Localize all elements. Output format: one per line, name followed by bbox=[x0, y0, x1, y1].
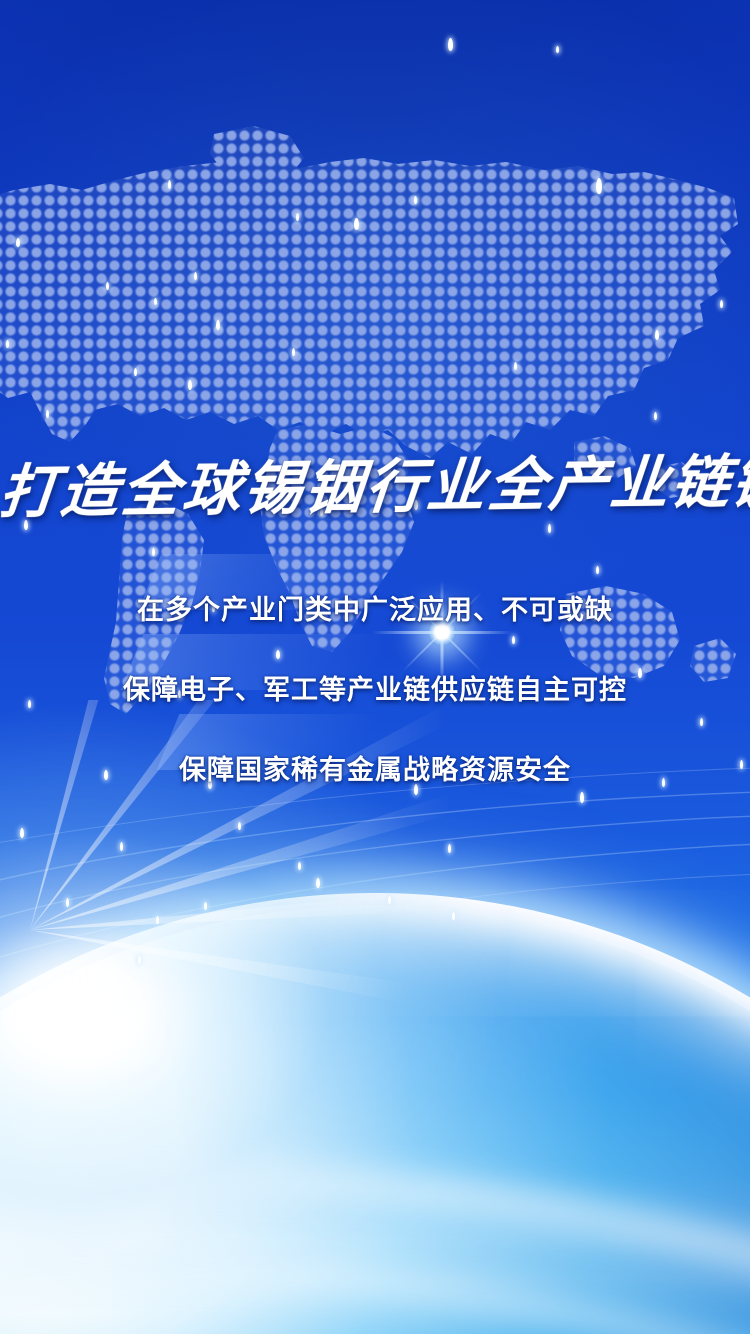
subtitle-line-2: 保障电子、军工等产业链供应链自主可控 bbox=[0, 668, 750, 707]
poster-canvas: 打造全球锡铟行业全产业链链主 在多个产业门类中广泛应用、不可或缺 保障电子、军工… bbox=[0, 0, 750, 1334]
subtitle-line-3: 保障国家稀有金属战略资源安全 bbox=[0, 748, 750, 787]
page-title: 打造全球锡铟行业全产业链链主 bbox=[0, 452, 750, 523]
subtitle-line-1: 在多个产业门类中广泛应用、不可或缺 bbox=[0, 588, 750, 627]
